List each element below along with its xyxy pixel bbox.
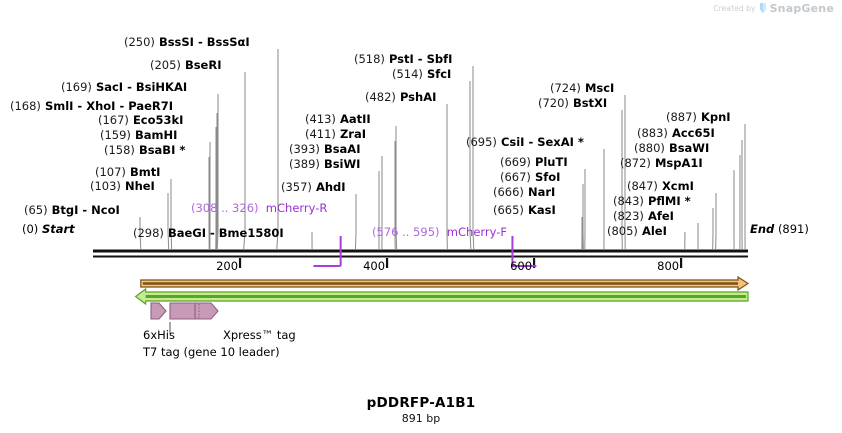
enzyme-label-e-65[interactable]: (65) BtgI - NcoI: [24, 204, 120, 216]
enzyme-name: PflMI *: [644, 194, 691, 208]
enzyme-name: MspA1I: [651, 156, 703, 170]
enzyme-position: (724): [550, 81, 581, 95]
enzyme-position: (205): [150, 58, 181, 72]
enzyme-label-e-167[interactable]: (167) Eco53kI: [98, 114, 183, 126]
enzyme-position: (169): [61, 80, 92, 94]
snapgene-logo-icon: [759, 3, 767, 14]
enzyme-label-e-665[interactable]: (665) KasI: [493, 204, 556, 216]
enzyme-label-e-880[interactable]: (880) BsaWI: [634, 142, 709, 154]
enzyme-position: (883): [637, 126, 668, 140]
enzyme-position: (482): [365, 90, 396, 104]
primer-name: mCherry-F: [440, 225, 508, 239]
enzyme-label-e-695[interactable]: (695) CsiI - SexAI *: [466, 136, 584, 148]
start-label: Start: [42, 222, 75, 236]
leader-line-e-205: [244, 72, 245, 249]
enzyme-label-e-724[interactable]: (724) MscI: [550, 82, 614, 94]
enzyme-label-e-250[interactable]: (250) BssSI - BssSαI: [124, 36, 250, 48]
watermark-created-by-label: Created by: [713, 4, 755, 13]
feature-caption-feat-xpress[interactable]: Xpress™ tag: [223, 329, 296, 342]
enzyme-name: MscI: [581, 81, 614, 95]
enzyme-position: (887): [666, 110, 697, 124]
enzyme-position: (389): [289, 157, 320, 171]
primer-range: (576 .. 595): [372, 225, 440, 239]
enzyme-position: (518): [354, 52, 385, 66]
enzyme-label-e-872[interactable]: (872) MspA1I: [620, 157, 703, 169]
enzyme-position: (168): [10, 99, 41, 113]
enzyme-name: BsaWI: [665, 141, 709, 155]
enzyme-name: NarI: [524, 185, 555, 199]
enzyme-name: NheI: [121, 179, 155, 193]
enzyme-label-e-823[interactable]: (823) AfeI: [613, 210, 674, 222]
enzyme-name: PshAI: [396, 90, 436, 104]
enzyme-position: (667): [500, 170, 531, 184]
enzyme-label-e-411[interactable]: (411) ZraI: [305, 128, 366, 140]
end-position-label: (891): [778, 222, 809, 236]
primer-range: (308 .. 326): [191, 201, 259, 215]
enzyme-position: (843): [613, 194, 644, 208]
enzyme-name: KasI: [524, 203, 556, 217]
enzyme-position: (65): [24, 203, 48, 217]
enzyme-position: (159): [100, 128, 131, 142]
primer-mark-mcherry-r[interactable]: [313, 236, 340, 266]
end-label: End: [750, 222, 774, 236]
enzyme-position: (872): [620, 156, 651, 170]
enzyme-label-e-158[interactable]: (158) BsaBI *: [104, 144, 185, 156]
enzyme-name: AhdI: [312, 180, 346, 194]
plasmid-size-label: 891 bp: [0, 412, 842, 425]
start-position-label: (0): [22, 222, 38, 236]
primer-label-mcherry-r[interactable]: (308 .. 326) mCherry-R: [191, 202, 327, 214]
enzyme-position: (158): [104, 143, 135, 157]
plasmid-map: Created by SnapGene (250) BssSI - BssSαI…: [0, 0, 842, 433]
leader-line-e-103: [168, 193, 169, 249]
enzyme-label-e-667[interactable]: (667) SfoI: [500, 171, 560, 183]
enzyme-position: (167): [98, 113, 129, 127]
primer-binding-marks: [313, 236, 536, 266]
leader-line-e-250: [277, 49, 278, 249]
enzyme-position: (250): [124, 35, 155, 49]
sequence-ruler: [93, 251, 748, 268]
enzyme-name: BtgI - NcoI: [48, 203, 120, 217]
enzyme-label-e-107[interactable]: (107) BmtI: [95, 166, 160, 178]
enzyme-position: (103): [90, 179, 121, 193]
enzyme-name: XcmI: [658, 179, 694, 193]
ruler-tick-label-800: 800: [657, 259, 679, 273]
enzyme-position: (393): [289, 142, 320, 156]
enzyme-position: (880): [634, 141, 665, 155]
enzyme-label-e-887[interactable]: (887) KpnI: [666, 111, 731, 123]
leader-line-e-518: [473, 66, 474, 249]
enzyme-name: BmtI: [126, 165, 161, 179]
enzyme-name: BamHI: [131, 128, 177, 142]
feature-arrow-feat-6xhis[interactable]: [151, 303, 166, 319]
enzyme-position: (514): [392, 67, 423, 81]
enzyme-label-e-298[interactable]: (298) BaeGI - Bme1580I: [133, 227, 284, 239]
enzyme-name: BssSI - BssSαI: [155, 35, 250, 49]
enzyme-name: SacI - BsiHKAI: [92, 80, 187, 94]
enzyme-position: (665): [493, 203, 524, 217]
feature-caption-feat-6xhis[interactable]: 6xHis: [143, 329, 175, 342]
enzyme-label-e-389[interactable]: (389) BsiWI: [289, 158, 360, 170]
enzyme-position: (357): [281, 180, 312, 194]
enzyme-name: PstI - SbfI: [385, 52, 452, 66]
feature-caption-feat-t7tag[interactable]: T7 tag (gene 10 leader): [143, 346, 280, 359]
enzyme-position: (805): [607, 224, 638, 238]
ruler-tick-label-200: 200: [216, 259, 238, 273]
enzyme-name: KpnI: [697, 110, 731, 124]
enzyme-position: (666): [493, 185, 524, 199]
enzyme-name: Acc65I: [668, 126, 715, 140]
enzyme-name: Eco53kI: [129, 113, 184, 127]
enzyme-label-e-169[interactable]: (169) SacI - BsiHKAI: [61, 81, 187, 93]
enzyme-name: SmlI - XhoI - PaeR7I: [41, 99, 173, 113]
enzyme-name: BaeGI - Bme1580I: [164, 226, 284, 240]
enzyme-name: BsaAI: [320, 142, 361, 156]
enzyme-position: (823): [613, 209, 644, 223]
enzyme-label-e-159[interactable]: (159) BamHI: [100, 129, 177, 141]
enzyme-label-e-413[interactable]: (413) AatII: [305, 113, 371, 125]
enzyme-label-e-514[interactable]: (514) SfcI: [392, 68, 451, 80]
watermark-brand-label: SnapGene: [770, 2, 834, 15]
enzyme-label-e-883[interactable]: (883) Acc65I: [637, 127, 715, 139]
enzyme-position: (298): [133, 226, 164, 240]
track-arrow-cds-track[interactable]: [136, 289, 748, 304]
enzyme-name: BstXI: [569, 96, 607, 110]
primer-label-mcherry-f[interactable]: (576 .. 595) mCherry-F: [372, 226, 507, 238]
enzyme-name: ZraI: [336, 127, 366, 141]
enzyme-label-e-357[interactable]: (357) AhdI: [281, 181, 346, 193]
enzyme-name: AleI: [638, 224, 667, 238]
feature-arrow-feat-xpress[interactable]: [195, 303, 218, 319]
enzyme-name: AfeI: [644, 209, 674, 223]
primer-name: mCherry-R: [259, 201, 328, 215]
enzyme-position: (107): [95, 165, 126, 179]
leader-line-e-514: [470, 81, 471, 249]
annotated-feature-arrows: [151, 303, 218, 319]
feature-arrow-feat-t7tag[interactable]: [170, 303, 202, 319]
enzyme-name: PluTI: [531, 155, 568, 169]
snapgene-watermark: Created by SnapGene: [713, 2, 834, 15]
enzyme-label-e-518[interactable]: (518) PstI - SbfI: [354, 53, 452, 65]
enzyme-name: BsiWI: [320, 157, 361, 171]
enzyme-position: (695): [466, 135, 497, 149]
enzyme-label-e-843[interactable]: (843) PflMI *: [613, 195, 691, 207]
enzyme-position: (411): [305, 127, 336, 141]
feature-track-arrows: [136, 277, 748, 304]
sequence-start-marker: (0) Start: [22, 223, 75, 235]
enzyme-name: CsiI - SexAI *: [497, 135, 584, 149]
enzyme-label-e-847[interactable]: (847) XcmI: [627, 180, 694, 192]
sequence-end-marker: End (891): [750, 223, 809, 235]
enzyme-label-e-482[interactable]: (482) PshAI: [365, 91, 436, 103]
enzyme-name: BseRI: [181, 58, 222, 72]
enzyme-name: BsaBI *: [135, 143, 185, 157]
enzyme-label-e-103[interactable]: (103) NheI: [90, 180, 155, 192]
enzyme-label-e-720[interactable]: (720) BstXI: [538, 97, 607, 109]
enzyme-position: (413): [305, 112, 336, 126]
enzyme-label-e-393[interactable]: (393) BsaAI: [289, 143, 361, 155]
leader-line-e-357: [355, 194, 356, 249]
enzyme-position: (669): [500, 155, 531, 169]
ruler-tick-label-400: 400: [363, 259, 385, 273]
enzyme-position: (847): [627, 179, 658, 193]
enzyme-name: SfoI: [531, 170, 560, 184]
enzyme-label-e-669[interactable]: (669) PluTI: [500, 156, 568, 168]
enzyme-name: AatII: [336, 112, 371, 126]
enzyme-label-e-205[interactable]: (205) BseRI: [150, 59, 222, 71]
enzyme-name: SfcI: [423, 67, 451, 81]
enzyme-position: (720): [538, 96, 569, 110]
ruler-tick-marks: [240, 258, 681, 268]
enzyme-label-e-666[interactable]: (666) NarI: [493, 186, 555, 198]
track-arrow-orf-track[interactable]: [141, 277, 748, 290]
enzyme-label-e-805[interactable]: (805) AleI: [607, 225, 667, 237]
page-title: pDDRFP-A1B1: [0, 395, 842, 411]
ruler-tick-label-600: 600: [510, 259, 532, 273]
enzyme-label-e-168[interactable]: (168) SmlI - XhoI - PaeR7I: [10, 100, 173, 112]
